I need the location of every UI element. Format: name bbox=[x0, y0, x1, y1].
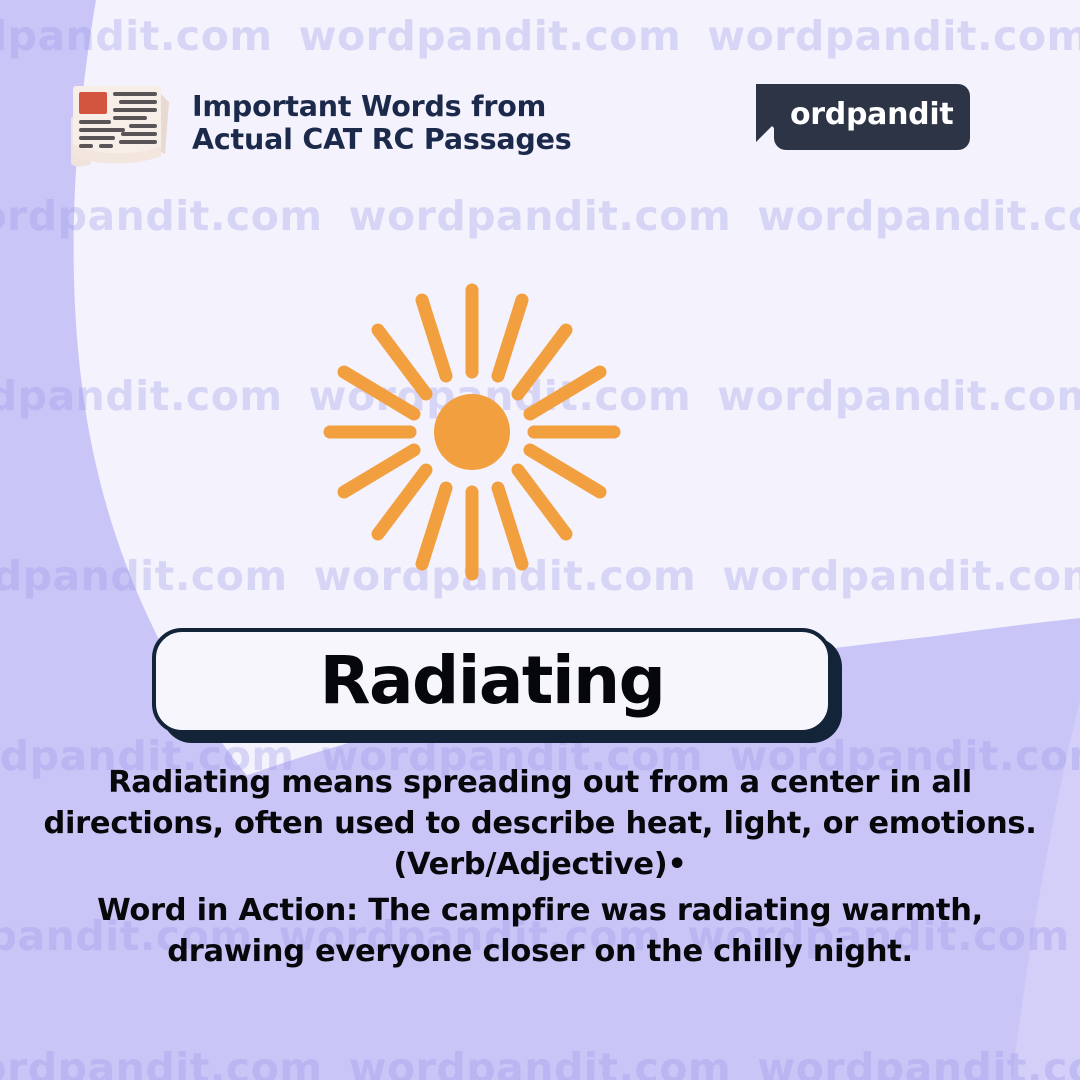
word-card-body: Radiating bbox=[152, 628, 832, 734]
sun-radiating-icon bbox=[312, 272, 632, 592]
page-title-line-2: Actual CAT RC Passages bbox=[192, 123, 572, 156]
header: Important Words from Actual CAT RC Passa… bbox=[0, 0, 1080, 200]
word-definition: Radiating means spreading out from a cen… bbox=[26, 762, 1054, 885]
wordpandit-logo-text: ordpandit bbox=[790, 97, 953, 132]
word-term: Radiating bbox=[320, 648, 665, 714]
page-title: Important Words from Actual CAT RC Passa… bbox=[192, 90, 572, 156]
page-title-line-1: Important Words from bbox=[192, 90, 572, 123]
sun-core bbox=[434, 394, 510, 470]
newspaper-icon bbox=[57, 72, 175, 172]
word-card: Radiating bbox=[152, 628, 848, 746]
poster-canvas: wordpandit.comwordpandit.comwordpandit.c… bbox=[0, 0, 1080, 1080]
word-in-action: Word in Action: The campfire was radiati… bbox=[60, 890, 1020, 972]
